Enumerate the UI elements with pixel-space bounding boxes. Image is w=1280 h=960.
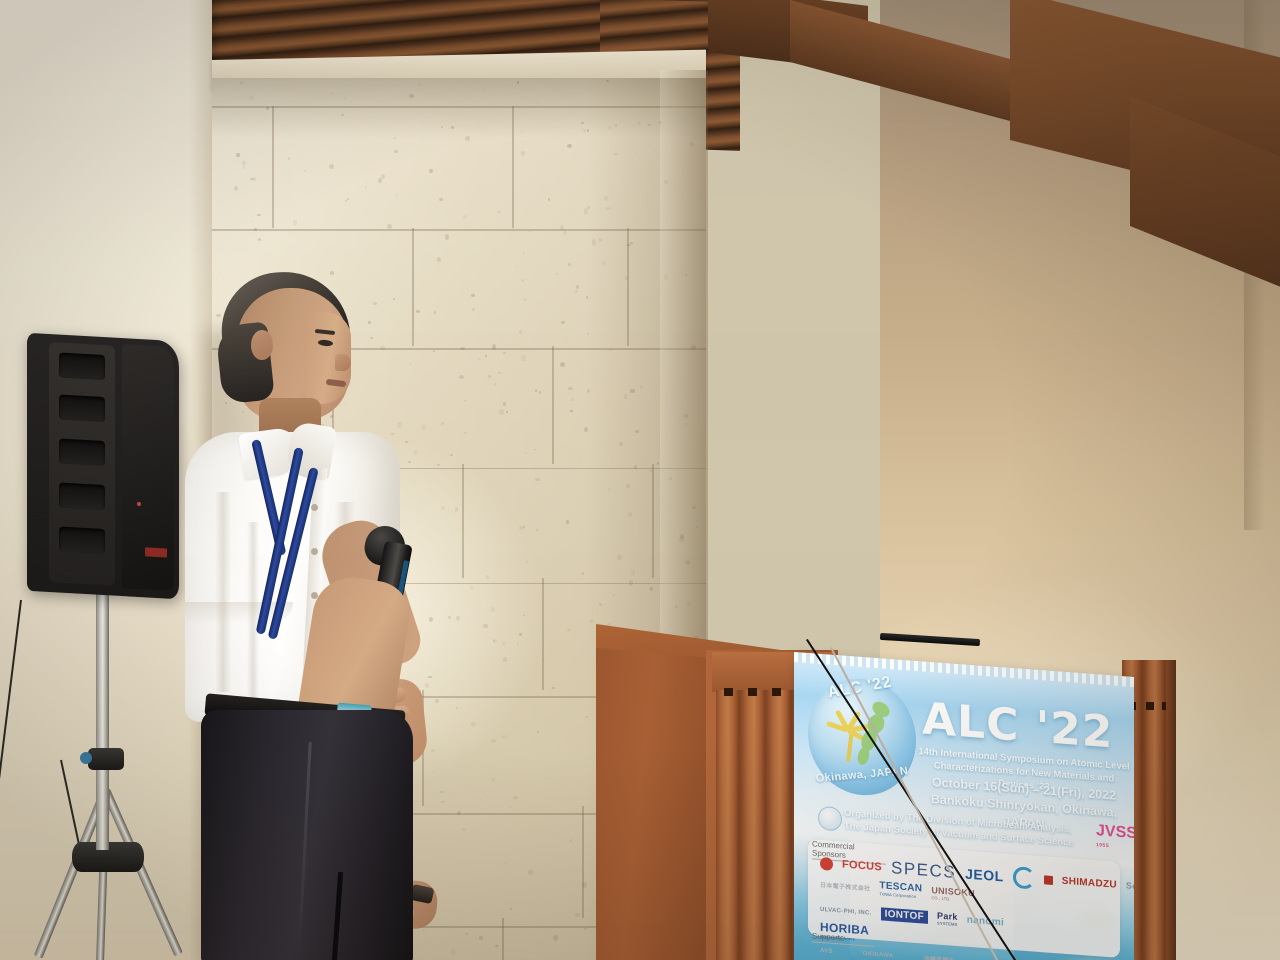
stone-speck [492,344,496,350]
loudspeaker-side-baffle [49,342,115,586]
loudspeaker [27,333,179,599]
stone-speck [395,194,398,197]
stone-speck [553,935,558,941]
stone-speck [288,157,290,160]
stone-speck [462,828,466,831]
stone-speck [457,811,461,815]
stone-speck [429,169,433,173]
stone-speck [471,722,476,728]
stone-speck [575,290,578,294]
presenter-ear [251,330,273,360]
stone-speck [503,402,506,406]
stone-speck [479,936,483,940]
jeol-swirl-icon [1013,866,1035,890]
presenter-trousers [201,710,413,960]
stone-joint-vertical [502,918,504,960]
stone-speck [560,362,565,367]
stone-speck [236,153,239,157]
presenter [185,272,450,960]
sponsor-logo: FOCUS [842,859,882,874]
stone-speck [548,198,550,200]
support-logo: 沖縄県観光 [924,954,956,960]
stone-speck [528,870,533,876]
stone-speck [552,687,555,689]
stone-speck [345,200,346,202]
stone-speck [523,298,527,301]
stone-speck [466,933,468,935]
stone-speck [503,657,508,661]
stone-speck [567,144,572,148]
sponsor-logo: SHIMADZU [1062,875,1117,890]
tripod-column [96,560,109,850]
stone-speck [503,352,506,354]
stone-speck [537,731,539,733]
sponsor-logo: IONTOF [881,907,928,923]
stone-speck [510,908,512,910]
stone-speck [488,375,491,377]
stone-speck [495,383,496,384]
stone-speck [493,640,495,642]
support-logo: AVS [820,947,833,954]
sponsor-logo: Park SYSTEMS [937,911,958,928]
stone-speck [464,400,466,402]
stone-speck [492,778,495,780]
stone-speck [378,178,382,183]
stone-speck [464,432,466,434]
stone-speck [250,178,253,180]
stone-speck [242,165,245,169]
photo-scene: ALC '22 Okinawa, JAPAN ALC '22 14th Inte… [0,0,1280,960]
support-logo: OKINAWA [863,951,894,959]
sponsor-logo: Scienta Omicron [1126,880,1134,896]
stone-speck [523,252,524,254]
stone-speck [381,174,385,179]
sponsor-logo: JEOL [965,866,1004,885]
loudspeaker-led-icon [137,502,141,506]
stone-speck [521,355,525,360]
stone-speck [570,839,572,841]
stone-speck [513,796,518,799]
stone-speck [293,220,297,225]
stone-speck [486,575,489,578]
stone-joint-vertical [582,806,584,918]
stone-speck [456,616,460,621]
stone-speck [387,224,392,229]
sponsor-logo: ULVAC-PHI, INC. [820,906,872,916]
stone-speck [495,945,498,948]
stone-speck [478,358,480,360]
organizer-seal-icon [818,806,842,832]
stone-speck [498,211,500,213]
sponsor-logo: 日本電子株式会社 [820,879,870,892]
jvss-logo-icon: JVSS 1955 [1096,824,1126,854]
focus-logo-icon [820,856,833,870]
stone-speck [556,273,558,274]
stone-speck [365,186,367,188]
presenter-nose [335,354,351,371]
stone-speck [502,735,506,738]
stone-speck [498,372,501,374]
stone-speck [506,379,507,380]
stone-speck [445,234,449,239]
loudspeaker-brand-logo [145,547,167,557]
stone-speck [460,347,465,350]
stone-speck [485,355,486,356]
stone-speck [502,642,506,645]
sponsor-logo: TESCAN TOWA Corporation [879,880,922,899]
podium-left-panel [596,648,712,960]
podium-right-edge [1166,660,1176,960]
tripod-knob-icon [80,752,92,764]
stone-speck [252,177,256,181]
stone-speck [568,263,571,267]
stone-speck [463,215,467,220]
stone-speck [519,330,522,334]
stone-joint-vertical [552,346,554,464]
stone-speck [499,409,504,415]
stone-speck [521,279,524,282]
stone-speck [456,707,458,709]
stone-joint-vertical [462,464,464,578]
stone-speck [242,161,245,165]
stone-joint-vertical [542,578,544,690]
stone-speck [575,913,580,917]
stone-speck [560,225,564,230]
shimadzu-mark-icon [1044,875,1053,885]
stone-speck [459,375,464,379]
stone-speck [570,208,571,209]
stone-speck [451,949,455,955]
tripod-collar [88,748,124,770]
stone-speck [491,739,496,743]
